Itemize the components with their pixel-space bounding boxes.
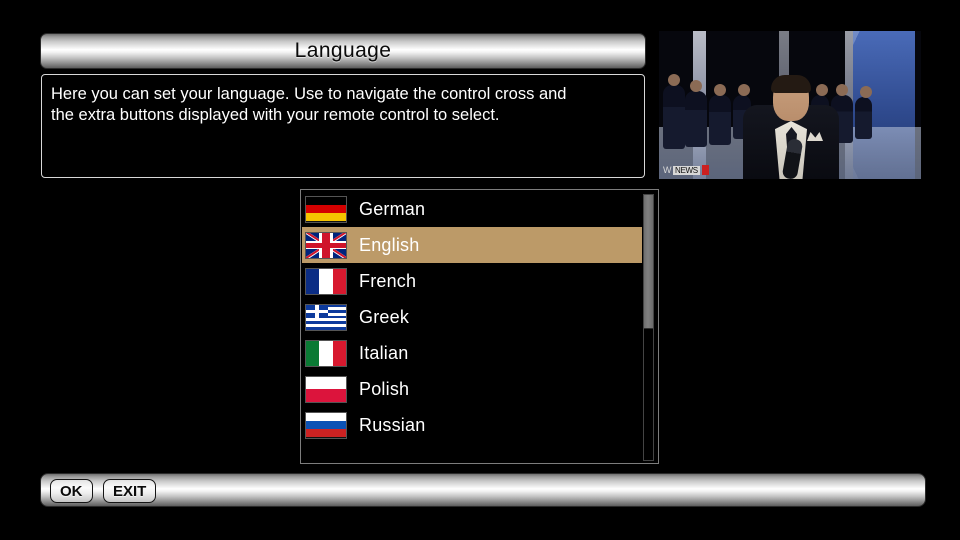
channel-logo-text: W bbox=[663, 165, 671, 175]
language-list-item[interactable]: Greek bbox=[302, 299, 642, 335]
video-crowd-figure bbox=[663, 85, 685, 149]
language-list-item[interactable]: French bbox=[302, 263, 642, 299]
language-list-item-label: English bbox=[359, 235, 419, 256]
video-crowd-figure bbox=[685, 91, 707, 147]
tv-settings-screen: Language Here you can set your language.… bbox=[0, 0, 960, 540]
language-list-item[interactable]: German bbox=[302, 191, 642, 227]
language-list-item-label: Greek bbox=[359, 307, 409, 328]
channel-logo-badge: NEWS bbox=[673, 166, 700, 175]
language-list-item[interactable]: Polish bbox=[302, 371, 642, 407]
language-list-item-label: French bbox=[359, 271, 416, 292]
language-list-rows: GermanEnglishFrenchGreekItalianPolishRus… bbox=[302, 191, 642, 443]
flag-russia-icon bbox=[305, 412, 347, 439]
video-crowd-figure bbox=[855, 97, 872, 139]
language-list-panel[interactable]: GermanEnglishFrenchGreekItalianPolishRus… bbox=[300, 189, 659, 464]
description-text: Here you can set your language. Use to n… bbox=[51, 84, 632, 126]
video-reporter bbox=[743, 61, 839, 179]
flag-france-icon bbox=[305, 268, 347, 295]
flag-italy-icon bbox=[305, 340, 347, 367]
exit-button[interactable]: EXIT bbox=[103, 479, 156, 503]
flag-poland-icon bbox=[305, 376, 347, 403]
list-scrollbar-track[interactable] bbox=[643, 194, 654, 461]
language-list-item[interactable]: English bbox=[302, 227, 642, 263]
ok-button[interactable]: OK bbox=[50, 479, 93, 503]
flag-united-kingdom-icon bbox=[305, 232, 347, 259]
language-list-item-label: Polish bbox=[359, 379, 409, 400]
video-preview[interactable]: W NEWS bbox=[659, 31, 921, 179]
flag-germany-icon bbox=[305, 196, 347, 223]
bottom-button-bar: OK EXIT bbox=[40, 473, 926, 507]
channel-logo: W NEWS bbox=[663, 164, 709, 176]
language-list-item-label: Italian bbox=[359, 343, 408, 364]
language-list-item[interactable]: Italian bbox=[302, 335, 642, 371]
language-list-item[interactable]: Russian bbox=[302, 407, 642, 443]
language-list-item-label: Russian bbox=[359, 415, 425, 436]
reporter-hair bbox=[771, 75, 811, 93]
page-title: Language bbox=[41, 34, 645, 68]
flag-greece-icon bbox=[305, 304, 347, 331]
list-scrollbar-thumb[interactable] bbox=[644, 195, 653, 329]
channel-logo-mark bbox=[702, 165, 709, 175]
video-crowd-figure bbox=[709, 95, 731, 145]
description-panel: Here you can set your language. Use to n… bbox=[41, 74, 645, 178]
language-list-item-label: German bbox=[359, 199, 425, 220]
title-bar: Language bbox=[40, 33, 646, 69]
